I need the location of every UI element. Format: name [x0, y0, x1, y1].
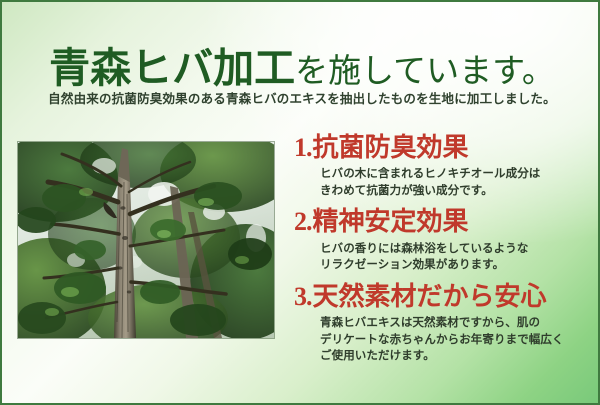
benefit-body-1: ヒバの木に含まれるヒノキチオール成分は きわめて抗菌力が強い成分です。 [320, 166, 594, 199]
benefit-title-1: 抗菌防臭効果 [313, 133, 469, 162]
benefit-body-3: 青森ヒバエキスは天然素材ですから、肌の デリケートな赤ちゃんからお年寄りまで幅広… [320, 315, 594, 365]
benefit-body-2: ヒバの香りには森林浴をしているような リラクゼーション効果があります。 [320, 241, 594, 274]
benefit-body-3-line-3: ご使用いただけます。 [320, 348, 594, 365]
benefit-body-3-line-1: 青森ヒバエキスは天然素材ですから、肌の [320, 315, 594, 332]
poster-content: 青森ヒバ加工を施しています。 自然由来の抗菌防臭効果のある青森ヒバのエキスを抽出… [2, 2, 598, 403]
benefit-body-1-line-2: きわめて抗菌力が強い成分です。 [320, 183, 594, 200]
benefit-body-1-line-1: ヒバの木に含まれるヒノキチオール成分は [320, 166, 594, 183]
page-title-main: 青森ヒバ加工 [49, 45, 295, 91]
benefit-list: 1.抗菌防臭効果 ヒバの木に含まれるヒノキチオール成分は きわめて抗菌力が強い成… [294, 134, 594, 374]
benefit-heading-2: 2.精神安定効果 [294, 208, 594, 236]
benefit-heading-3: 3.天然素材だから安心 [294, 283, 594, 311]
list-item: 2.精神安定効果 ヒバの香りには森林浴をしているような リラクゼーション効果があ… [294, 208, 594, 273]
hiba-tree-photo-illustration [18, 142, 274, 338]
benefit-number-1: 1. [294, 133, 312, 162]
page-title: 青森ヒバ加工を施しています。 [2, 34, 600, 94]
benefit-body-3-line-2: デリケートな赤ちゃんからお年寄りまで幅広く [320, 332, 594, 349]
benefit-title-3: 天然素材だから安心 [313, 282, 547, 311]
page-title-tail: を施しています。 [295, 54, 555, 90]
benefit-number-2: 2. [294, 207, 312, 236]
list-item: 1.抗菌防臭効果 ヒバの木に含まれるヒノキチオール成分は きわめて抗菌力が強い成… [294, 134, 594, 199]
promo-poster: 青森ヒバ加工を施しています。 自然由来の抗菌防臭効果のある青森ヒバのエキスを抽出… [0, 0, 600, 405]
benefit-body-2-line-2: リラクゼーション効果があります。 [320, 257, 594, 274]
hiba-tree-photo [18, 142, 274, 338]
benefit-heading-1: 1.抗菌防臭効果 [294, 134, 594, 162]
benefit-number-3: 3. [294, 282, 312, 311]
page-subtitle: 自然由来の抗菌防臭効果のある青森ヒバのエキスを抽出したものを生地に加工しました。 [2, 88, 600, 107]
benefit-title-2: 精神安定効果 [313, 207, 469, 236]
benefit-body-2-line-1: ヒバの香りには森林浴をしているような [320, 241, 594, 258]
list-item: 3.天然素材だから安心 青森ヒバエキスは天然素材ですから、肌の デリケートな赤ち… [294, 283, 594, 365]
